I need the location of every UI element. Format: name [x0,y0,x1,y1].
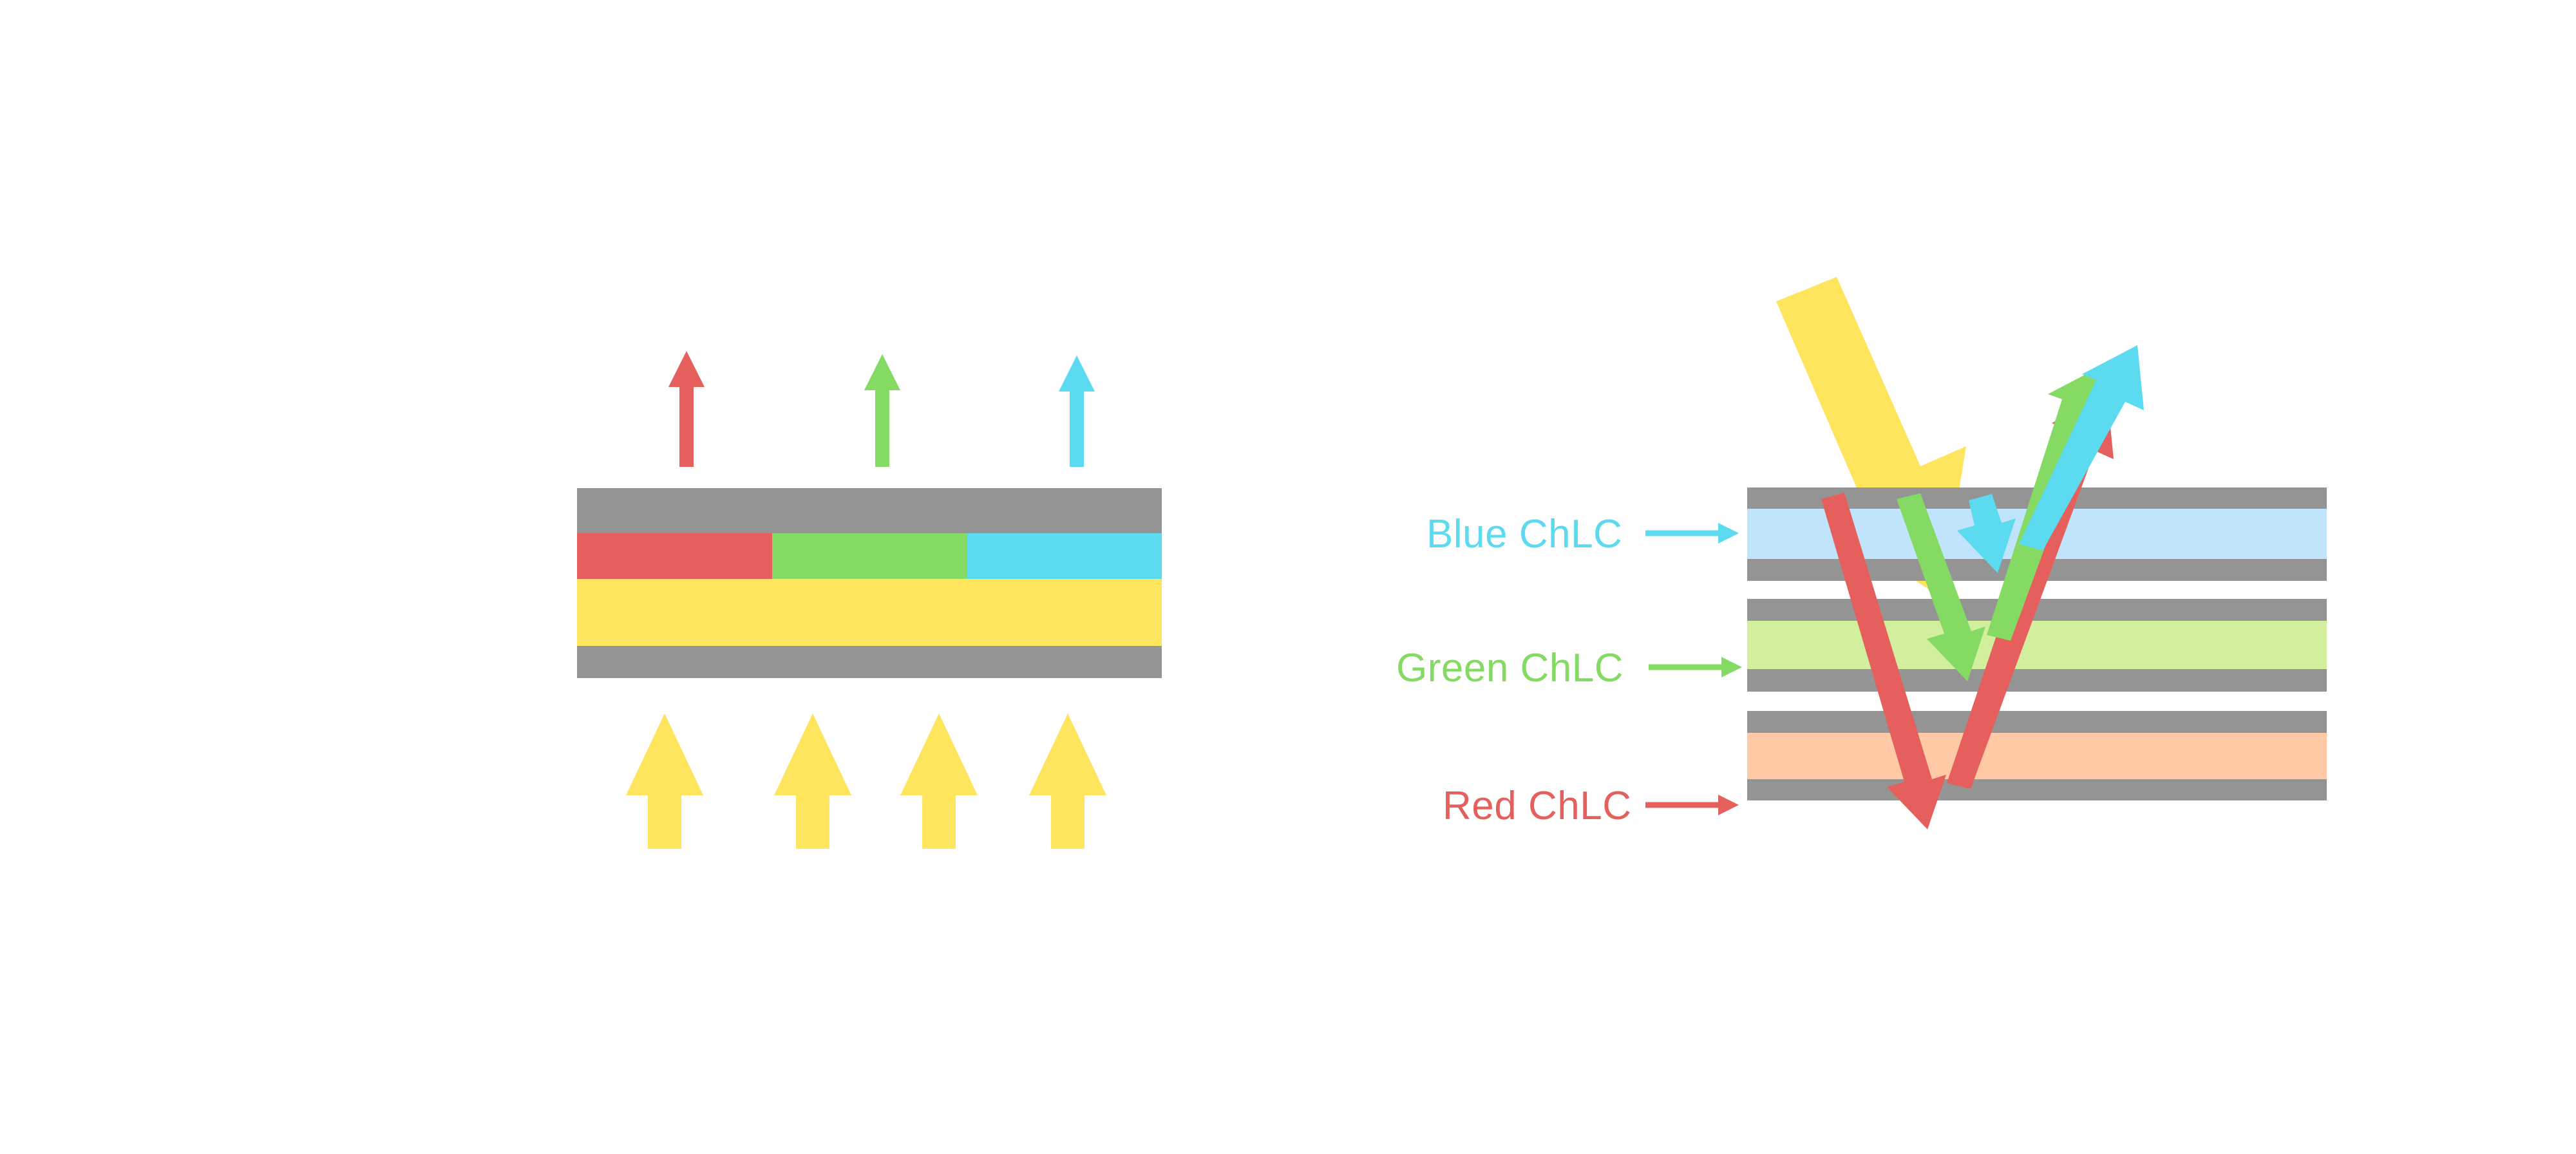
emitted-arrows-group [668,351,1095,467]
bottom-electrode-layer [577,646,1162,678]
backlight-layer [577,579,1162,646]
backlight-arrow-2 [774,714,851,849]
red-chlc-layer [1747,733,2327,779]
red-chlc-top-electrode [1747,711,2327,733]
green-subpixel-segment [772,533,967,579]
backlight-arrow-1 [626,714,703,849]
green-chlc-bottom-electrode [1747,669,2327,692]
red-label-arrow-icon [1645,795,1739,815]
left-stack-group [577,488,1162,678]
green-chlc-label: Green ChLC [1396,646,1624,690]
blue-chlc-label: Blue ChLC [1426,512,1622,556]
blue-subpixel-segment [967,533,1162,579]
red-chlc-label: Red ChLC [1443,784,1631,828]
blue-emitted-arrow [1059,355,1095,467]
green-label-arrow-icon [1649,657,1742,677]
backlight-arrow-3 [900,714,978,849]
top-electrode-layer [577,488,1162,533]
backlight-arrow-4 [1029,714,1106,849]
backlight-source-arrows-group [626,714,1106,849]
left-panel-graphics: Blue ChLC Green ChLC Red ChLC [0,0,2576,1154]
red-subpixel-segment [577,533,772,579]
green-emitted-arrow [864,354,900,467]
red-emitted-arrow [668,351,705,467]
label-arrows-group [1645,523,1742,815]
diagram-canvas: Blue ChLC Green ChLC Red ChLC [0,0,2576,1154]
blue-label-arrow-icon [1645,523,1739,544]
red-chlc-bottom-electrode [1747,779,2327,800]
green-chlc-layer [1747,621,2327,669]
